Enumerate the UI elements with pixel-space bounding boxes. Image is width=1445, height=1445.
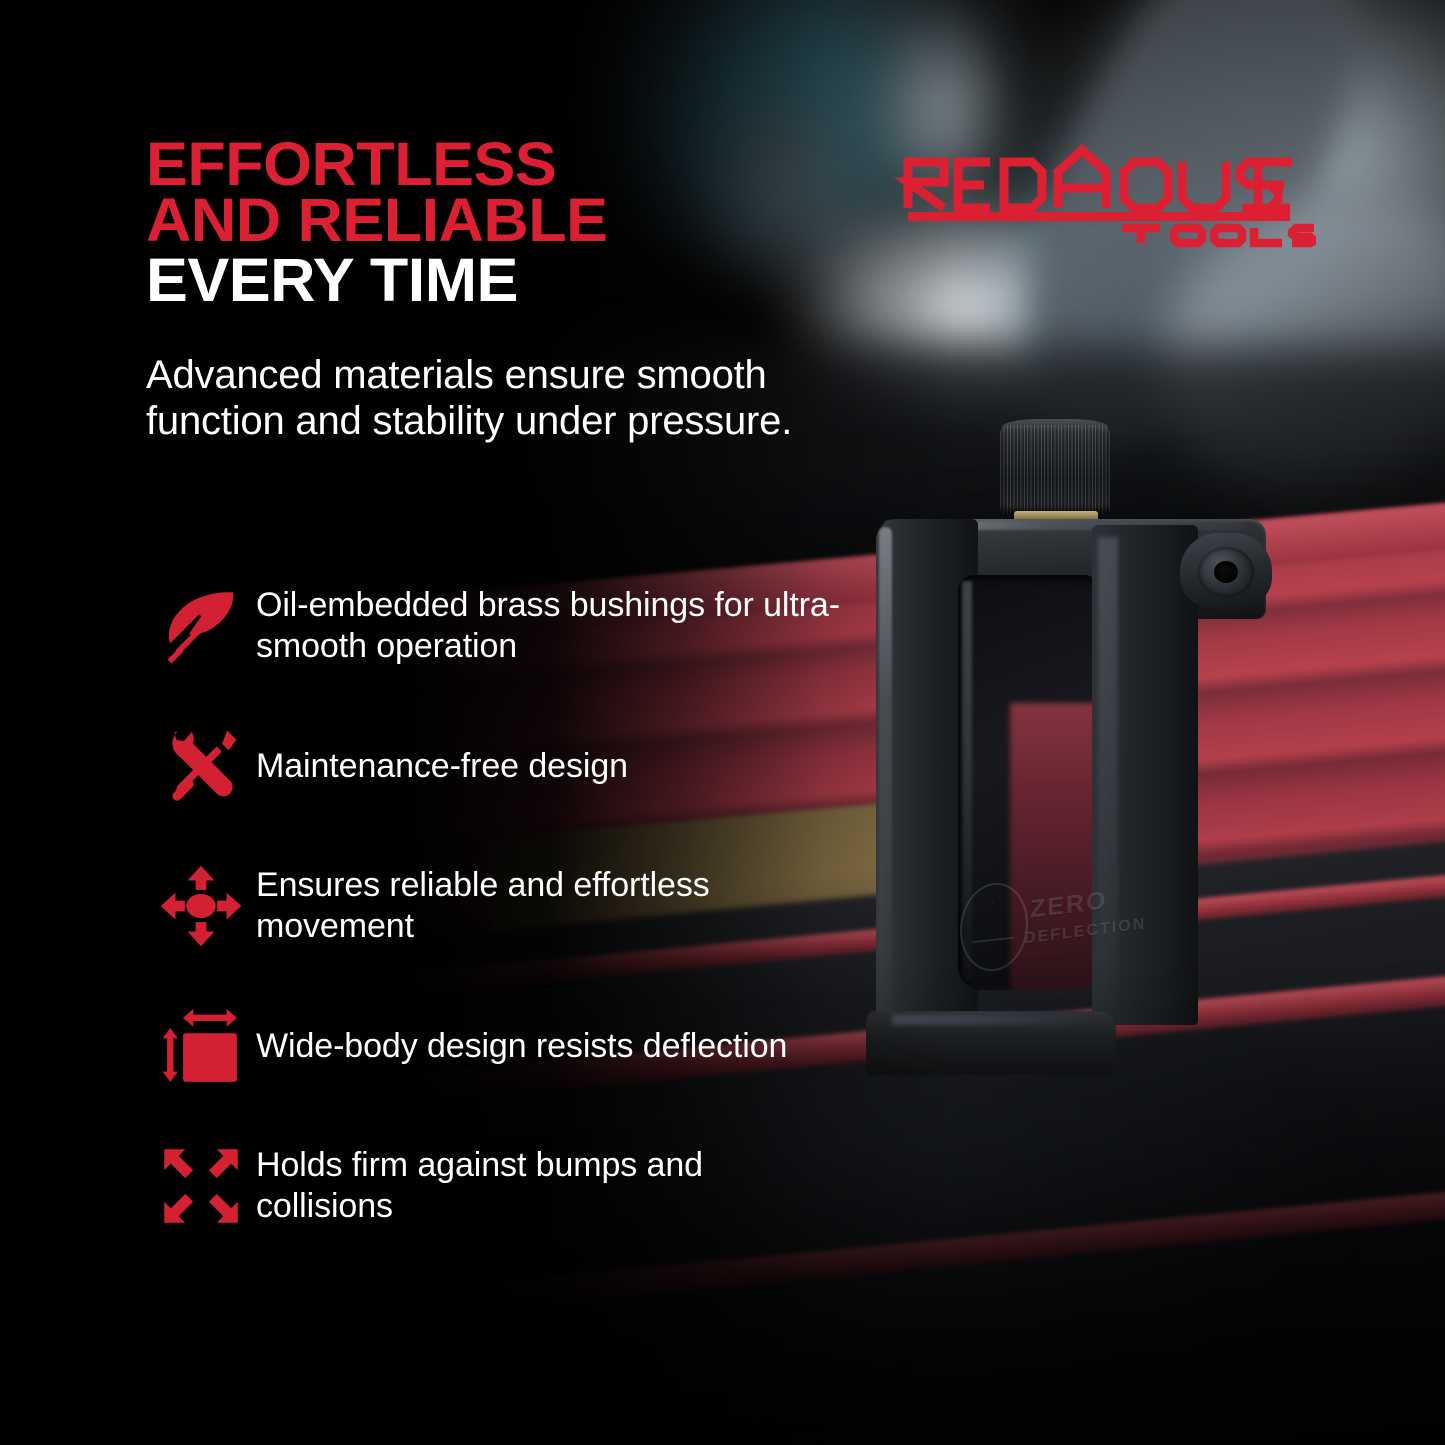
marketing-infographic: ZERO DEFLECTION bbox=[0, 0, 1445, 1445]
headline-line-3: EVERY TIME bbox=[146, 252, 867, 308]
list-item: Holds firm against bumps and collisions bbox=[146, 1138, 846, 1234]
headline-line-1: EFFORTLESS bbox=[146, 136, 867, 192]
page-title: EFFORTLESS AND RELIABLE EVERY TIME bbox=[146, 136, 846, 308]
wrench-screwdriver-icon bbox=[146, 718, 256, 814]
feature-text: Holds firm against bumps and collisions bbox=[256, 1145, 846, 1227]
feature-text: Wide-body design resists deflection bbox=[256, 1026, 787, 1067]
headline-line-2: AND RELIABLE bbox=[146, 192, 867, 248]
four-way-move-icon bbox=[146, 858, 256, 954]
subheading: Advanced materials ensure smooth functio… bbox=[146, 352, 826, 445]
feature-text: Oil-embedded brass bushings for ultra-sm… bbox=[256, 585, 846, 667]
dimensions-icon bbox=[146, 998, 256, 1094]
feature-text: Maintenance-free design bbox=[256, 746, 628, 787]
feather-icon bbox=[146, 578, 256, 674]
list-item: Oil-embedded brass bushings for ultra-sm… bbox=[146, 578, 846, 674]
redhouse-tools-logo bbox=[886, 138, 1316, 248]
compress-arrows-icon bbox=[146, 1138, 256, 1234]
feature-list: Oil-embedded brass bushings for ultra-sm… bbox=[146, 578, 846, 1234]
list-item: Wide-body design resists deflection bbox=[146, 998, 846, 1094]
feature-text: Ensures reliable and effortless movement bbox=[256, 865, 846, 947]
list-item: Maintenance-free design bbox=[146, 718, 846, 814]
list-item: Ensures reliable and effortless movement bbox=[146, 858, 846, 954]
content-layer: EFFORTLESS AND RELIABLE EVERY TIME Advan… bbox=[0, 0, 1445, 1445]
